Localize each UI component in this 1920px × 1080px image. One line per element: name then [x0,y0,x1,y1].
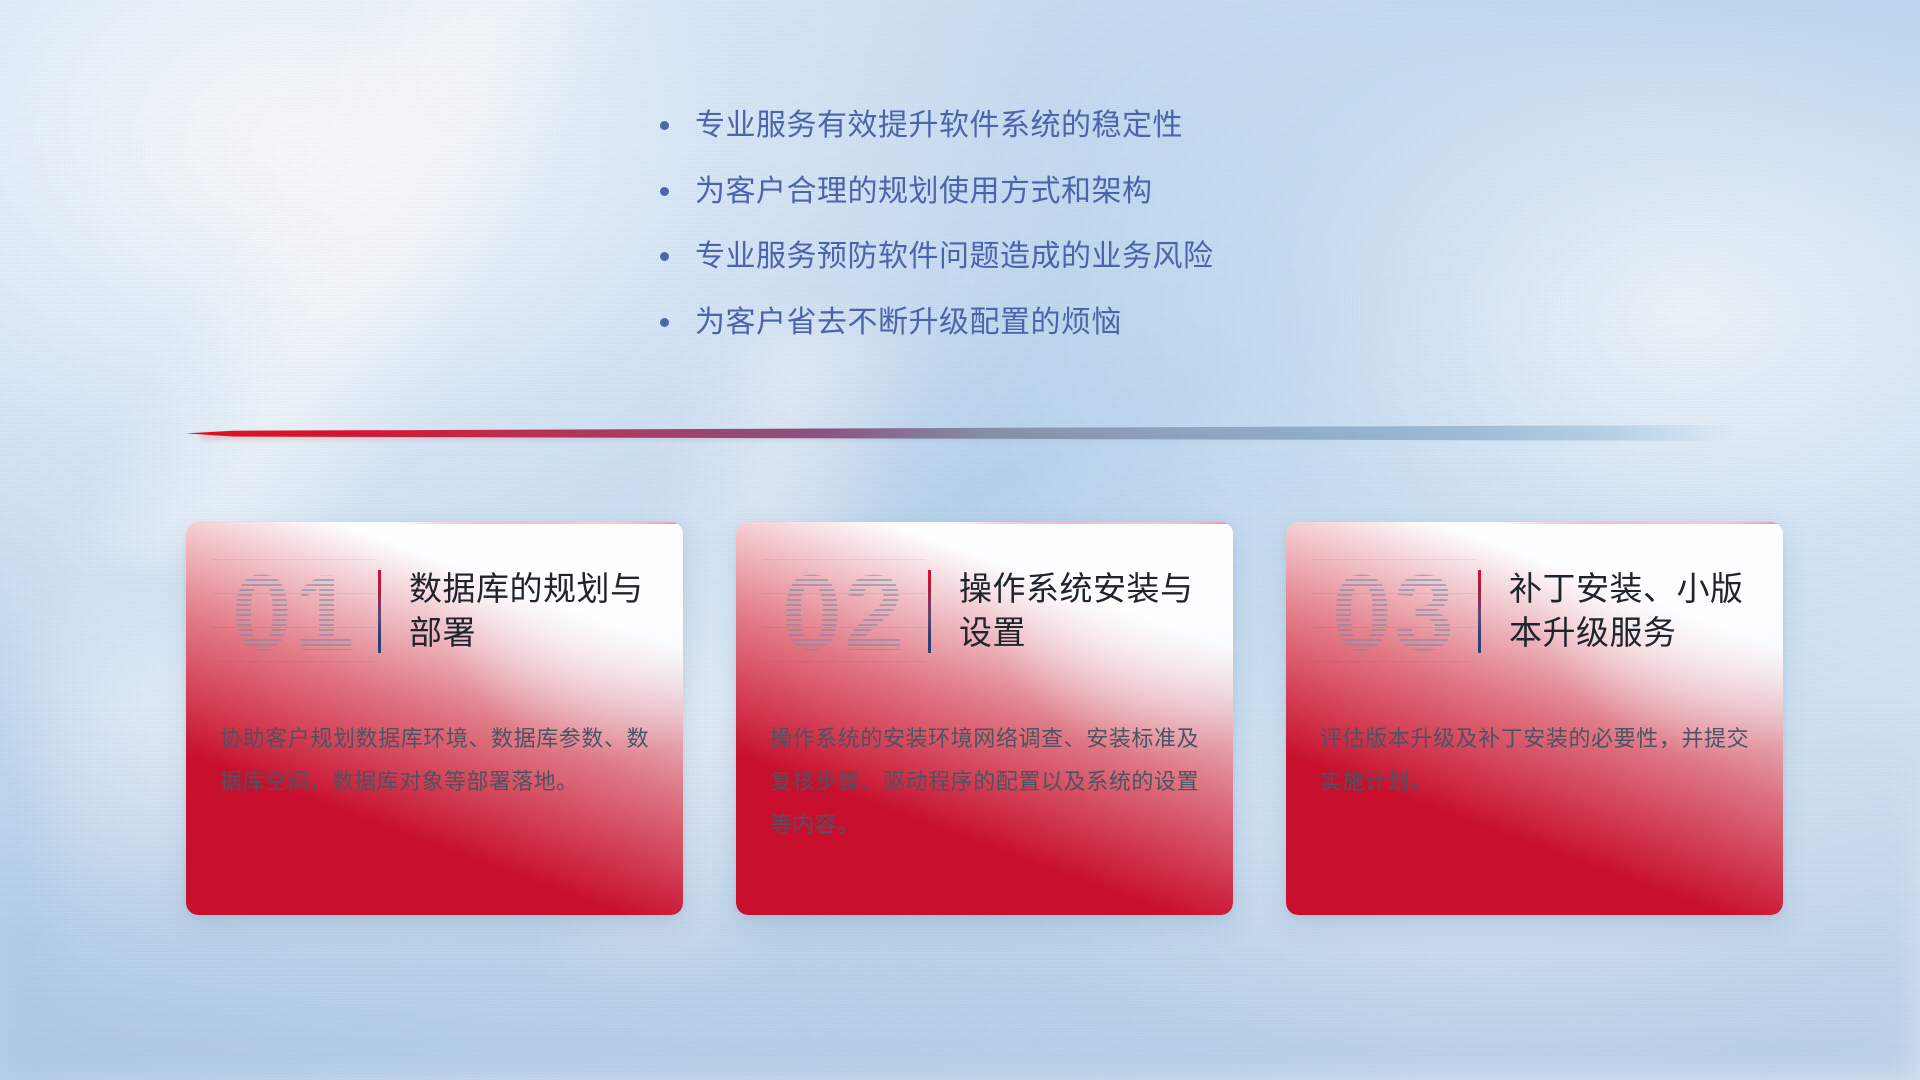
list-item: 为客户省去不断升级配置的烦恼 [660,305,1400,342]
card-number-watermark: 03 [1312,559,1476,667]
bullet-dot-icon [660,252,669,261]
service-card-group: 01 数据库的规划与部署 协助客户规划数据库环境、数据库参数、数据库空间、数据库… [186,522,1783,915]
section-divider [186,425,1734,441]
card-number-watermark: 01 [212,559,376,667]
list-item: 为客户合理的规划使用方式和架构 [660,174,1400,211]
card-header: 02 操作系统安装与设置 [736,522,1233,700]
list-item: 专业服务有效提升软件系统的稳定性 [660,108,1400,145]
card-divider-rule [928,570,931,653]
service-card-02[interactable]: 02 操作系统安装与设置 操作系统的安装环境网络调查、安装标准及复核步骤、驱动程… [736,522,1233,915]
card-body-text: 评估版本升级及补丁安装的必要性，并提交实施计划。 [1286,700,1783,804]
card-body-text: 操作系统的安装环境网络调查、安装标准及复核步骤、驱动程序的配置以及系统的设置等内… [736,700,1233,847]
card-title: 数据库的规划与部署 [409,567,659,655]
card-number-watermark: 02 [762,559,926,667]
bullet-text: 专业服务预防软件问题造成的业务风险 [695,239,1214,276]
bullet-text: 为客户合理的规划使用方式和架构 [695,174,1153,211]
card-title: 补丁安装、小版本升级服务 [1509,567,1759,655]
bullet-dot-icon [660,121,669,130]
bullet-dot-icon [660,318,669,327]
list-item: 专业服务预防软件问题造成的业务风险 [660,239,1400,276]
card-divider-rule [378,570,381,653]
service-card-03[interactable]: 03 补丁安装、小版本升级服务 评估版本升级及补丁安装的必要性，并提交实施计划。 [1286,522,1783,915]
benefits-bullet-list: 专业服务有效提升软件系统的稳定性 为客户合理的规划使用方式和架构 专业服务预防软… [660,108,1400,370]
bullet-dot-icon [660,187,669,196]
bullet-text: 为客户省去不断升级配置的烦恼 [695,305,1122,342]
card-header: 01 数据库的规划与部署 [186,522,683,700]
card-title: 操作系统安装与设置 [959,567,1209,655]
card-header: 03 补丁安装、小版本升级服务 [1286,522,1783,700]
divider-shadow [201,434,1703,439]
card-divider-rule [1478,570,1481,653]
bullet-text: 专业服务有效提升软件系统的稳定性 [695,108,1183,145]
service-card-01[interactable]: 01 数据库的规划与部署 协助客户规划数据库环境、数据库参数、数据库空间、数据库… [186,522,683,915]
card-body-text: 协助客户规划数据库环境、数据库参数、数据库空间、数据库对象等部署落地。 [186,700,683,804]
